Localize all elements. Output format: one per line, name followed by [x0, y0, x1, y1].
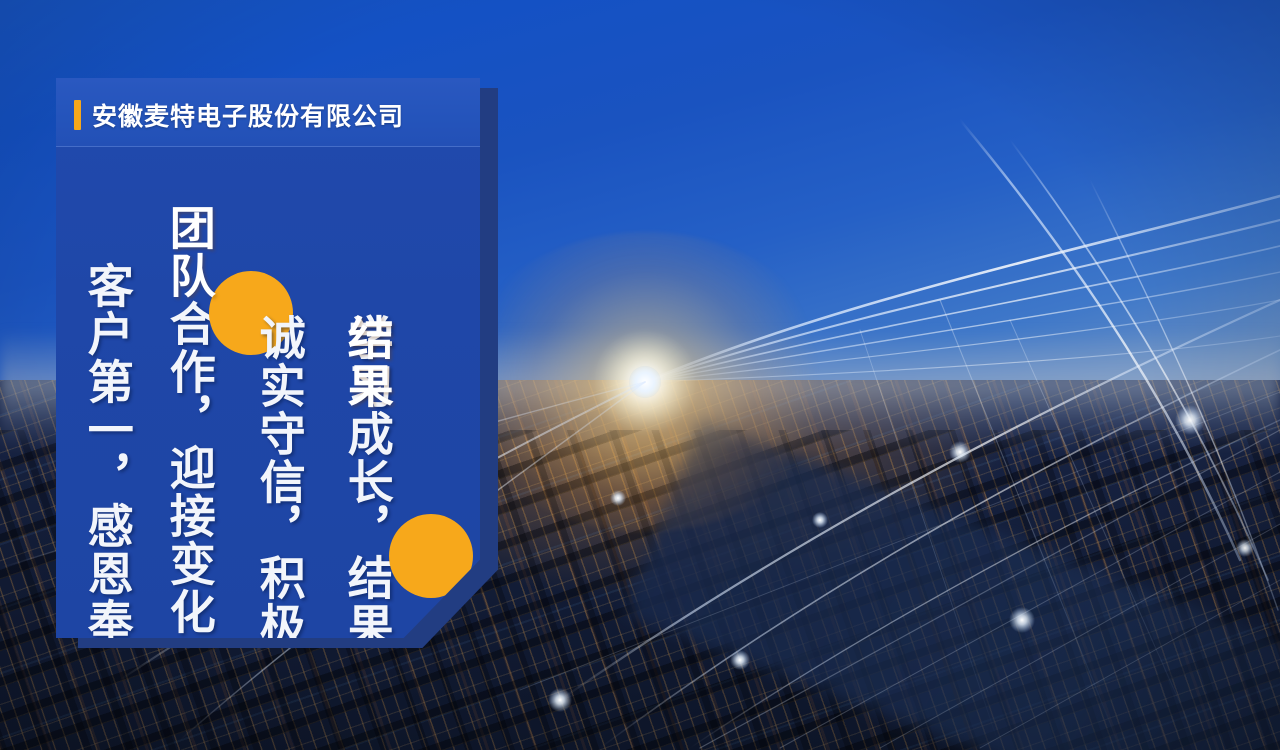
badge-team-label: 团队	[162, 204, 217, 300]
slogan-column-customer-first: 客户第一，感恩奉献	[80, 262, 135, 694]
company-name-title: 安徽麦特电子股份有限公司	[92, 97, 404, 133]
slogan-columns: 客户第一，感恩奉献 团队合作，迎接变化 团队 诚实守信，积极向上 学习成长，结果…	[56, 146, 480, 638]
culture-card-panel: 安徽麦特电子股份有限公司 客户第一，感恩奉献 团队合作，迎接变化 团队 诚实守信…	[56, 78, 480, 638]
orange-accent-bar-icon	[74, 100, 81, 130]
banner-canvas: 安徽麦特电子股份有限公司 客户第一，感恩奉献 团队合作，迎接变化 团队 诚实守信…	[0, 0, 1280, 750]
card-header: 安徽麦特电子股份有限公司	[56, 78, 480, 147]
badge-result-label: 结果	[340, 314, 395, 410]
